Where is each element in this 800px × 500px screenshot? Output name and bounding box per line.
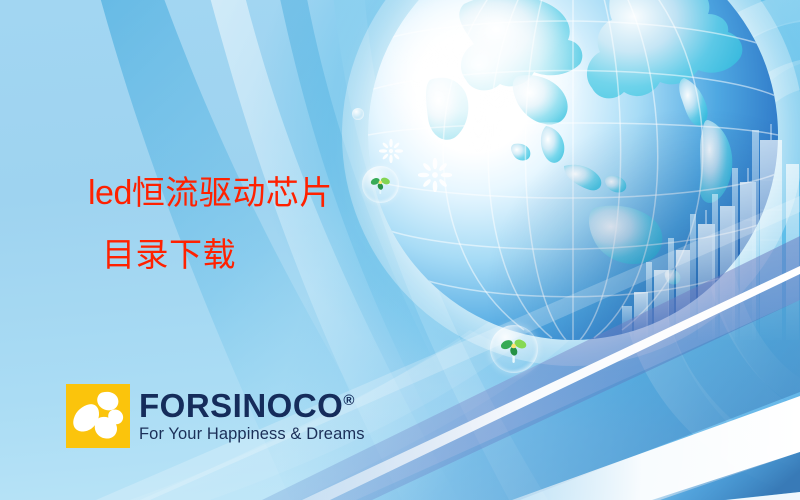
logo-wordmark-text: FORSINOCO: [139, 387, 343, 424]
headline: led恒流驱动芯片 目录下载: [88, 162, 333, 286]
small-bubble-icon: [352, 108, 364, 120]
headline-cjk-text: 恒流驱动芯片: [132, 173, 333, 212]
logo-wordmark: FORSINOCO®: [139, 389, 365, 422]
marketing-banner: led恒流驱动芯片 目录下载 FORSINOCO® For Your Happ: [0, 0, 800, 500]
bubble-with-pinwheel-icon: [362, 166, 399, 203]
company-logo[interactable]: FORSINOCO® For Your Happiness & Dreams: [66, 384, 365, 448]
logo-tagline: For Your Happiness & Dreams: [139, 426, 365, 443]
headline-latin-text: led: [88, 174, 132, 212]
registered-trademark-symbol: ®: [343, 392, 355, 409]
headline-line-2: 目录下载: [88, 224, 333, 286]
headline-line-1: led恒流驱动芯片: [88, 162, 333, 224]
sparkle-flower-icon: [379, 139, 403, 168]
four-petal-flower-icon: [66, 384, 130, 448]
sparkle-flower-icon: [418, 158, 452, 197]
bubble-with-pinwheel-icon: [490, 325, 538, 373]
logo-text-block: FORSINOCO® For Your Happiness & Dreams: [139, 389, 365, 443]
